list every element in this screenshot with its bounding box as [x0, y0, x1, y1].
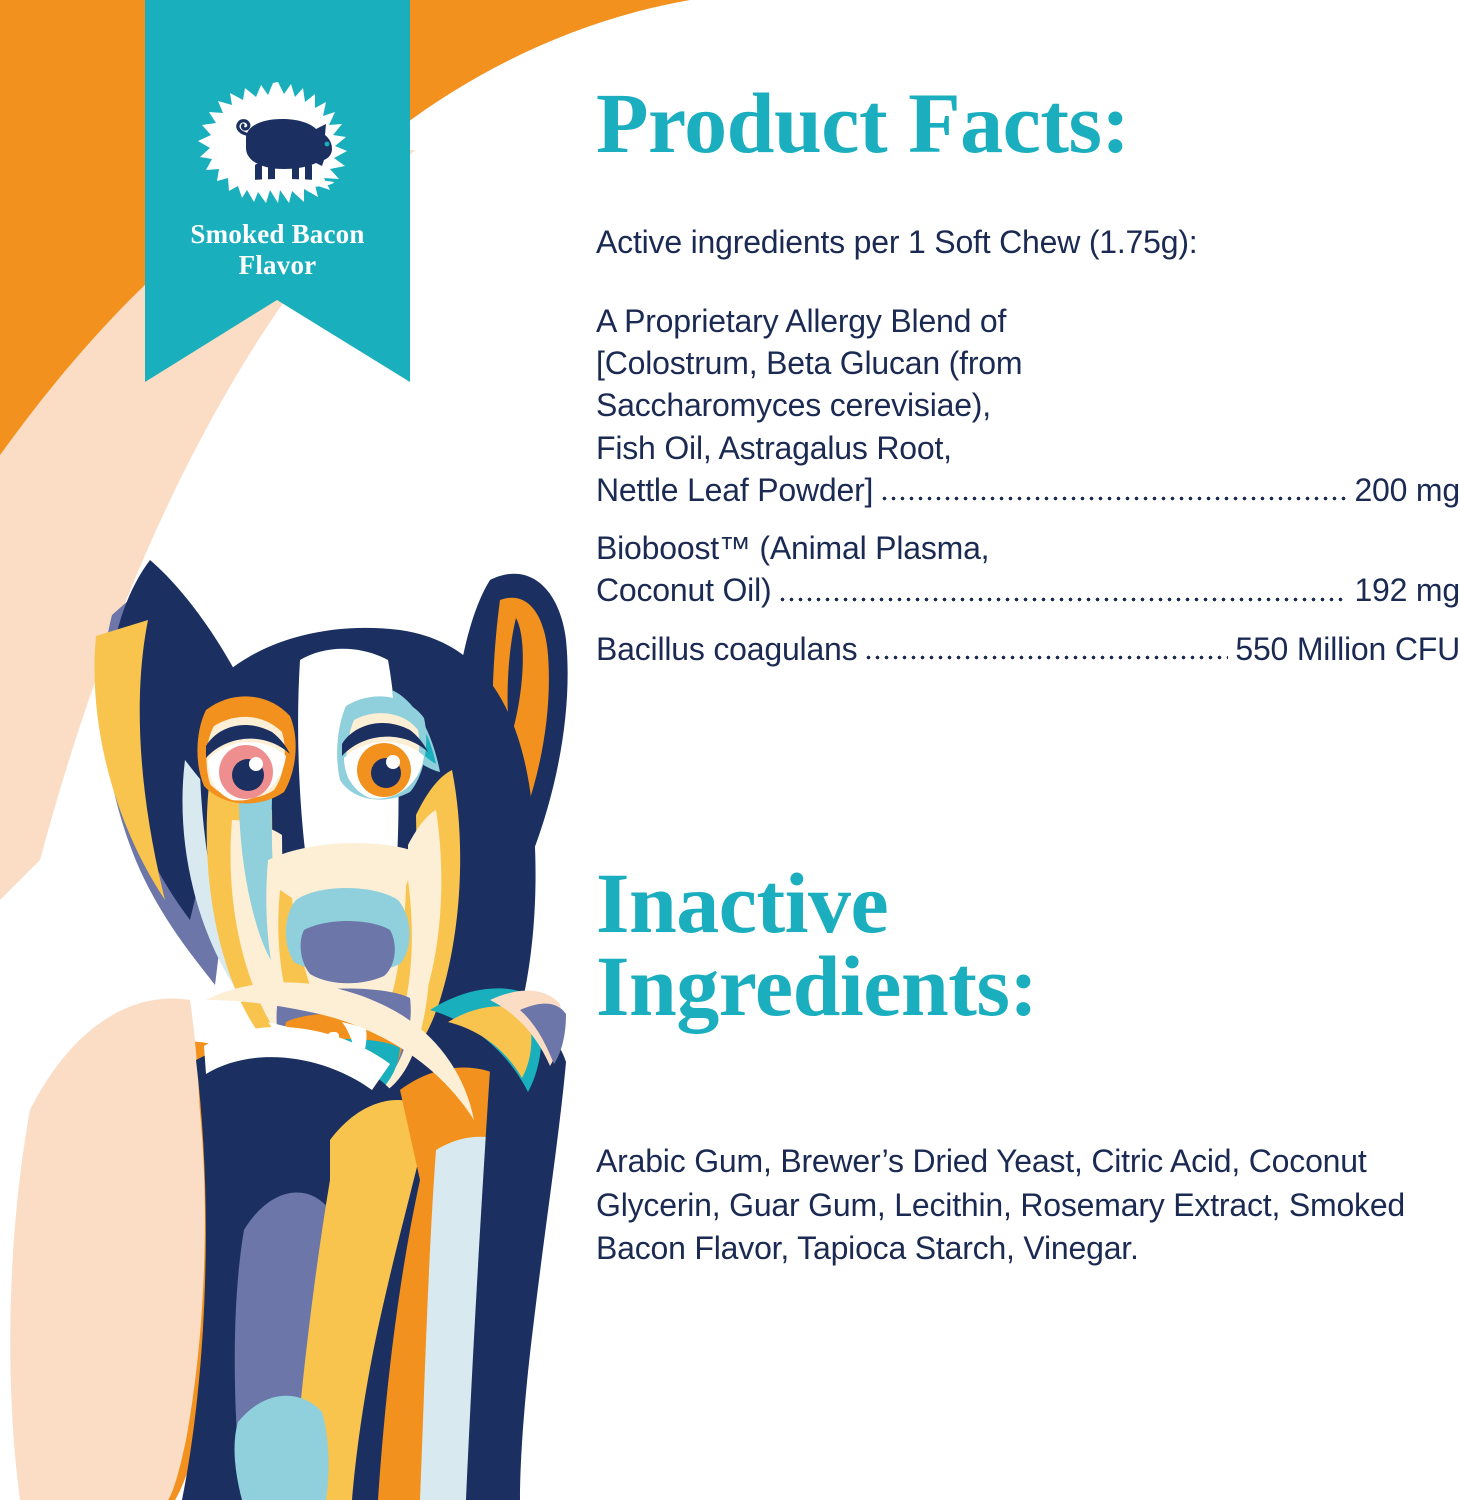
ingredient-amount-line: Nettle Leaf Powder]200 mg	[596, 469, 1460, 511]
ingredient-row: Bioboost™ (Animal Plasma,Coconut Oil)192…	[596, 527, 1460, 611]
inactive-ingredients-body: Arabic Gum, Brewer’s Dried Yeast, Citric…	[596, 1140, 1426, 1271]
inactive-heading-line-2: Ingredients:	[596, 945, 1460, 1028]
pig-badge-icon	[198, 78, 358, 203]
ingredient-amount-line: Coconut Oil)192 mg	[596, 569, 1460, 611]
inactive-heading-line-1: Inactive	[596, 862, 1460, 945]
ingredient-name-tail: Bacillus coagulans	[596, 628, 857, 670]
dot-leader	[864, 643, 1228, 665]
ingredient-name-line: Bioboost™ (Animal Plasma,	[596, 527, 1460, 569]
product-facts-label: Smoked Bacon Flavor Product Facts: Activ…	[0, 0, 1460, 1500]
ingredient-amount: 550 Million CFU	[1235, 628, 1460, 670]
dot-leader	[778, 585, 1347, 607]
ingredient-row: A Proprietary Allergy Blend of[Colostrum…	[596, 300, 1460, 511]
ingredient-name-line: Saccharomyces cerevisiae),	[596, 384, 1460, 426]
active-ingredients-table: A Proprietary Allergy Blend of[Colostrum…	[596, 300, 1460, 670]
flavor-label-line-2: Flavor	[157, 250, 398, 281]
flavor-label-line-1: Smoked Bacon	[157, 219, 398, 250]
ingredient-amount: 200 mg	[1354, 469, 1460, 511]
ingredient-name-line: [Colostrum, Beta Glucan (from	[596, 342, 1460, 384]
dot-leader	[880, 484, 1347, 506]
pop-art-dog-portrait	[10, 560, 567, 1500]
ingredient-name-tail: Nettle Leaf Powder]	[596, 469, 873, 511]
flavor-ribbon-banner: Smoked Bacon Flavor	[145, 0, 410, 382]
ingredient-name-tail: Coconut Oil)	[596, 569, 771, 611]
facts-column: Product Facts: Active ingredients per 1 …	[596, 0, 1460, 1500]
inactive-ingredients-heading: Inactive Ingredients:	[596, 862, 1460, 1027]
flavor-label: Smoked Bacon Flavor	[145, 219, 410, 282]
ingredient-name-line: A Proprietary Allergy Blend of	[596, 300, 1460, 342]
serving-size-line: Active ingredients per 1 Soft Chew (1.75…	[596, 222, 1460, 264]
ingredient-amount: 192 mg	[1354, 569, 1460, 611]
ingredient-amount-line: Bacillus coagulans550 Million CFU	[596, 628, 1460, 670]
product-facts-heading: Product Facts:	[596, 82, 1460, 165]
ingredient-name-line: Fish Oil, Astragalus Root,	[596, 427, 1460, 469]
ingredient-row: Bacillus coagulans550 Million CFU	[596, 628, 1460, 670]
